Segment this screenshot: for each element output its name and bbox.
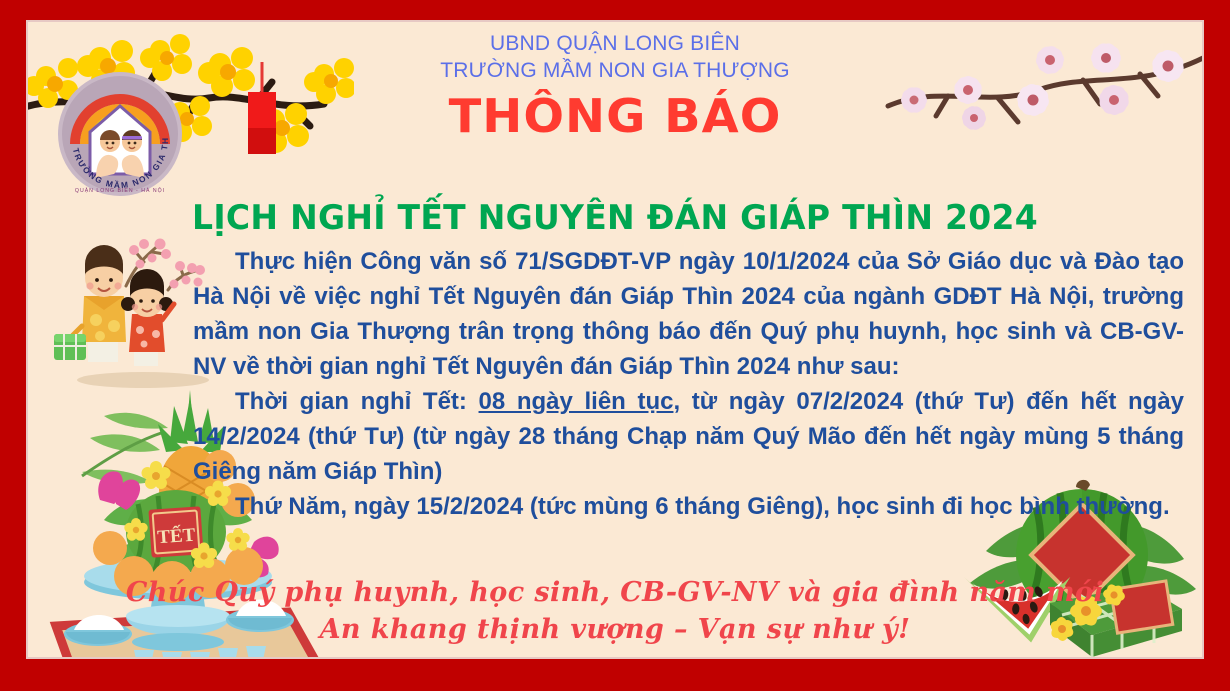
greeting-line-1: Chúc Quý phụ huynh, học sinh, CB-GV-NV v…	[28, 574, 1202, 611]
body-paragraph-3: Thứ Năm, ngày 15/2/2024 (tức mùng 6 thán…	[193, 489, 1184, 524]
svg-text:QUẬN LONG BIÊN - HÀ NỘI: QUẬN LONG BIÊN - HÀ NỘI	[75, 186, 165, 194]
header-line-2: TRƯỜNG MẦM NON GIA THƯỢNG	[28, 57, 1202, 84]
tet-holiday-announcement-poster: TRƯỜNG MẦM NON GIA THƯỢNG QUẬN LONG BIÊN…	[0, 0, 1230, 691]
announcement-body: Thực hiện Công văn số 71/SGDĐT-VP ngày 1…	[193, 244, 1184, 524]
body-paragraph-2: Thời gian nghỉ Tết: 08 ngày liên tục, từ…	[193, 384, 1184, 489]
greeting-block: Chúc Quý phụ huynh, học sinh, CB-GV-NV v…	[28, 574, 1202, 648]
page-title: LỊCH NGHỈ TẾT NGUYÊN ĐÁN GIÁP THÌN 2024	[46, 198, 1185, 238]
holiday-duration-underlined: 08 ngày liên tục	[479, 388, 674, 415]
tet-label: TẾT	[157, 524, 197, 549]
body-paragraph-1: Thực hiện Công văn số 71/SGDĐT-VP ngày 1…	[193, 244, 1184, 384]
header-line-1: UBND QUẬN LONG BIÊN	[28, 30, 1202, 57]
notice-title: THÔNG BÁO	[28, 90, 1202, 142]
greeting-line-2: An khang thịnh vượng – Vạn sự như ý!	[28, 611, 1202, 648]
para2-prefix: Thời gian nghỉ Tết:	[235, 388, 479, 415]
header-block: UBND QUẬN LONG BIÊN TRƯỜNG MẦM NON GIA T…	[28, 30, 1202, 142]
poster-page: TRƯỜNG MẦM NON GIA THƯỢNG QUẬN LONG BIÊN…	[28, 22, 1202, 657]
